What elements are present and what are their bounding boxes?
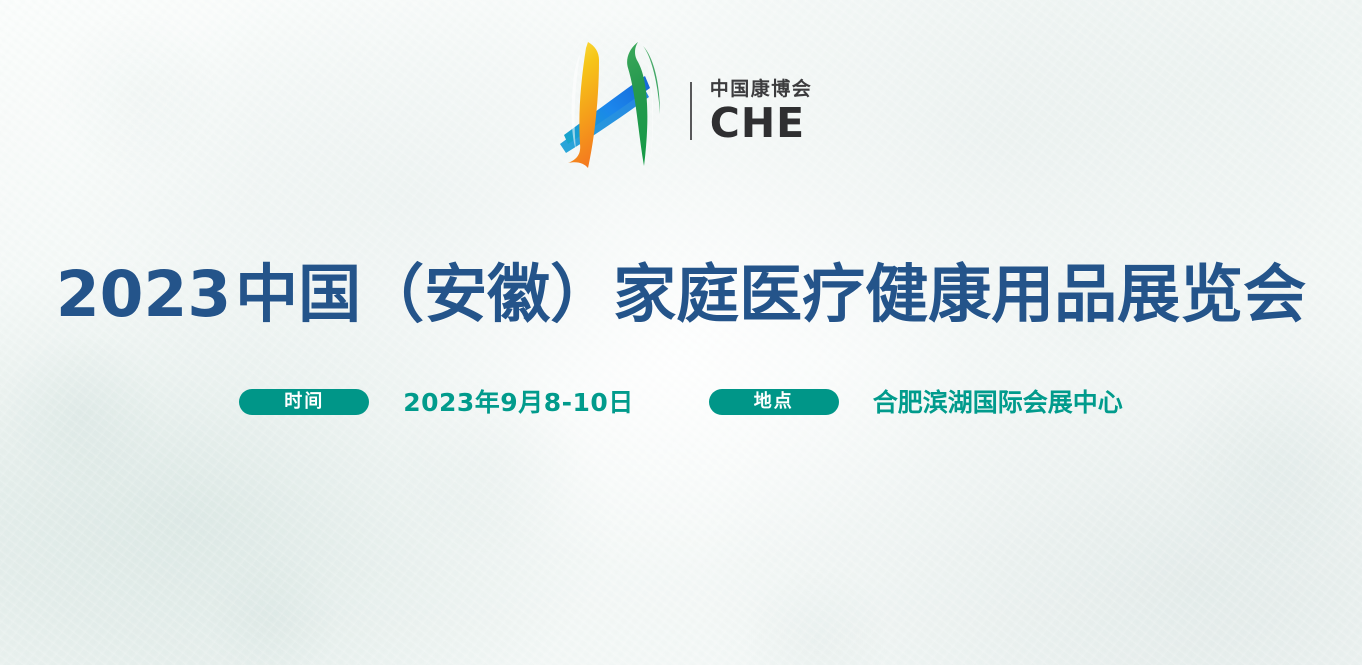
time-label-badge: 时间: [239, 389, 369, 415]
logo-wordmark: 中国康博会 CHE: [710, 79, 813, 145]
title-text: 中国（安徽）家庭医疗健康用品展览会: [235, 258, 1306, 331]
event-time-group: 时间 2023年9月8-10日: [239, 389, 634, 415]
event-venue-group: 地点 合肥滨湖国际会展中心: [709, 389, 1123, 415]
logo-chinese-name: 中国康博会: [710, 79, 813, 101]
event-info-row: 时间 2023年9月8-10日 地点 合肥滨湖国际会展中心: [0, 389, 1362, 415]
logo-divider: [690, 82, 692, 140]
title-year: 2023: [56, 258, 231, 331]
event-venue-value: 合肥滨湖国际会展中心: [873, 390, 1123, 415]
banner-content: 中国康博会 CHE 2023中国（安徽）家庭医疗健康用品展览会 时间 2023年…: [0, 0, 1362, 665]
logo-lockup: 中国康博会 CHE: [0, 40, 1362, 168]
page-title: 2023中国（安徽）家庭医疗健康用品展览会: [0, 260, 1362, 331]
exhibition-banner: 中国康博会 CHE 2023中国（安徽）家庭医疗健康用品展览会 时间 2023年…: [0, 0, 1362, 665]
event-date-value: 2023年9月8-10日: [403, 390, 634, 415]
logo-english-name: CHE: [710, 102, 805, 145]
venue-label-badge: 地点: [709, 389, 839, 415]
che-h-brushstroke-logo-icon: [550, 40, 676, 168]
